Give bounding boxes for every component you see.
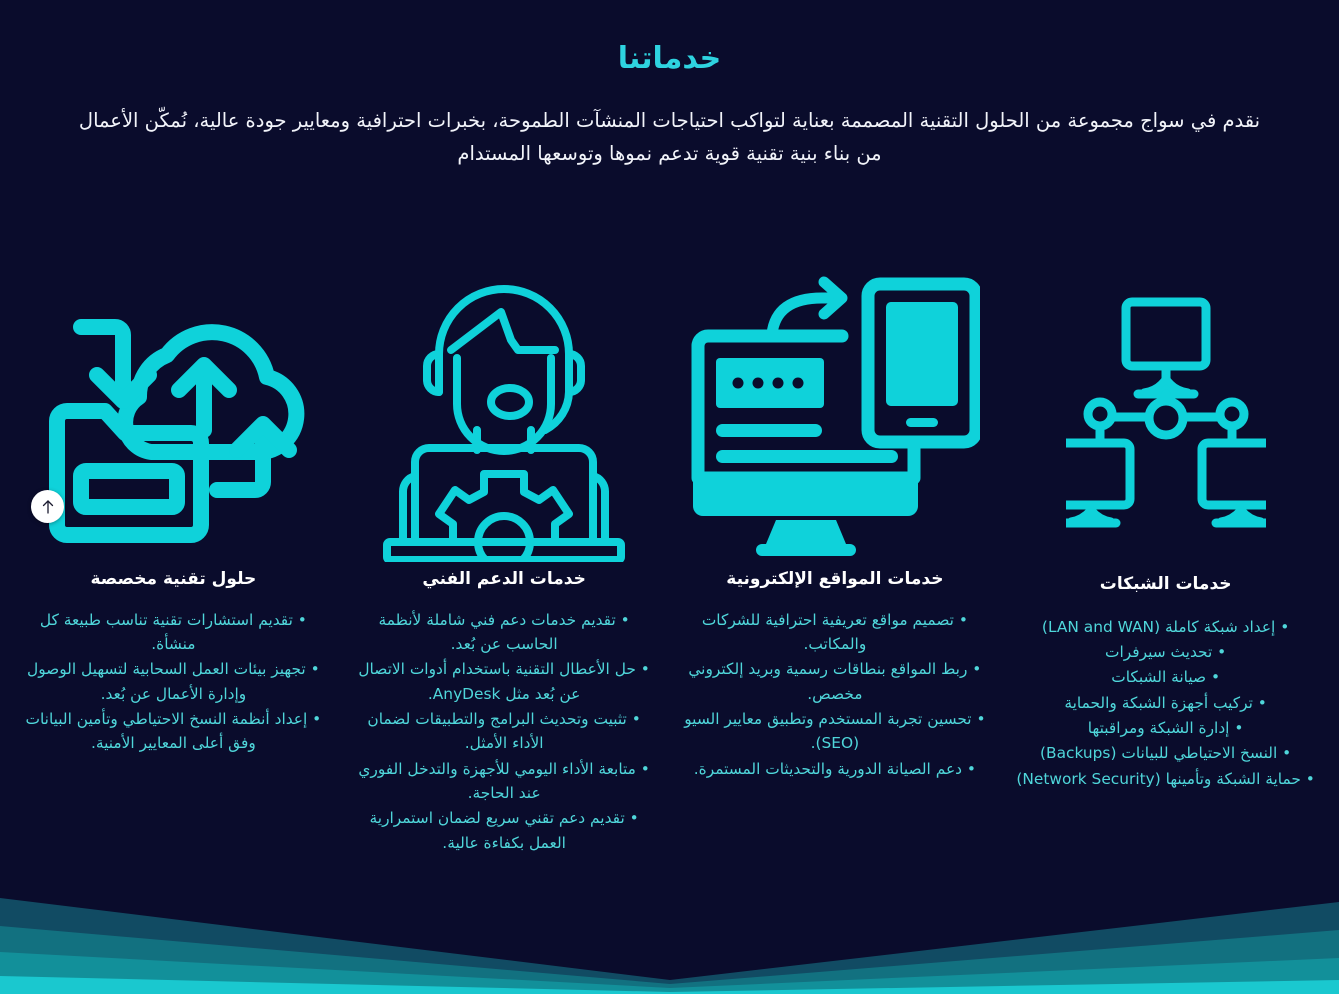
service-card-network-services[interactable]: خدمات الشبكات إعداد شبكة كاملة (LAN and … <box>1000 262 1331 792</box>
list-item: إعداد أنظمة النسخ الاحتياطي وتأمين البيا… <box>20 707 327 756</box>
section-subtitle: نقدم في سواج مجموعة من الحلول التقنية ال… <box>70 104 1270 171</box>
responsive-website-icon <box>690 262 980 562</box>
list-item: النسخ الاحتياطي للبيانات (Backups) <box>1016 741 1315 765</box>
list-item: تركيب أجهزة الشبكة والحماية <box>1016 691 1315 715</box>
footer-wave-decoration <box>0 884 1339 994</box>
list-item: تصميم مواقع تعريفية احترافية للشركات وال… <box>682 608 989 657</box>
list-item: ربط المواقع بنطاقات رسمية وبريد إلكتروني… <box>682 657 989 706</box>
network-topology-icon <box>1066 262 1266 562</box>
cloud-backup-icon <box>39 262 307 562</box>
list-item: حل الأعطال التقنية باستخدام أدوات الاتصا… <box>351 657 658 706</box>
list-item: متابعة الأداء اليومي للأجهزة والتدخل الف… <box>351 757 658 806</box>
card-feature-list: إعداد شبكة كاملة (LAN and WAN) تحديث سير… <box>1016 615 1315 792</box>
card-feature-list: تقديم خدمات دعم فني شاملة لأنظمة الحاسب … <box>351 608 658 856</box>
services-card-row: خدمات الشبكات إعداد شبكة كاملة (LAN and … <box>0 262 1339 856</box>
list-item: حماية الشبكة وتأمينها (Network Security) <box>1016 767 1315 791</box>
list-item: تجهيز بيئات العمل السحابية لتسهيل الوصول… <box>20 657 327 706</box>
card-feature-list: تصميم مواقع تعريفية احترافية للشركات وال… <box>682 608 989 782</box>
list-item: إعداد شبكة كاملة (LAN and WAN) <box>1016 615 1315 639</box>
service-card-web-services[interactable]: خدمات المواقع الإلكترونية تصميم مواقع تع… <box>670 262 1001 782</box>
list-item: تثبيت وتحديث البرامج والتطبيقات لضمان ال… <box>351 707 658 756</box>
list-item: تقديم استشارات تقنية تناسب طبيعة كل منشأ… <box>20 608 327 657</box>
list-item: دعم الصيانة الدورية والتحديثات المستمرة. <box>682 757 989 781</box>
arrow-up-icon <box>41 499 55 515</box>
list-item: تحديث سيرفرات <box>1016 640 1315 664</box>
card-feature-list: تقديم استشارات تقنية تناسب طبيعة كل منشأ… <box>20 608 327 757</box>
list-item: تقديم دعم تقني سريع لضمان استمرارية العم… <box>351 806 658 855</box>
list-item: صيانة الشبكات <box>1016 665 1315 689</box>
list-item: تحسين تجربة المستخدم وتطبيق معايير السيو… <box>682 707 989 756</box>
scroll-to-top-button[interactable] <box>31 490 64 523</box>
services-page: خدماتنا نقدم في سواج مجموعة من الحلول ال… <box>0 0 1339 994</box>
card-title: حلول تقنية مخصصة <box>90 568 256 592</box>
page-title: خدماتنا <box>0 40 1339 78</box>
support-agent-icon <box>379 262 629 562</box>
service-card-technical-support[interactable]: خدمات الدعم الفني تقديم خدمات دعم فني شا… <box>339 262 670 856</box>
section-header: خدماتنا نقدم في سواج مجموعة من الحلول ال… <box>0 0 1339 171</box>
list-item: إدارة الشبكة ومراقبتها <box>1016 716 1315 740</box>
card-title: خدمات المواقع الإلكترونية <box>726 568 943 592</box>
card-title: خدمات الدعم الفني <box>422 568 585 592</box>
list-item: تقديم خدمات دعم فني شاملة لأنظمة الحاسب … <box>351 608 658 657</box>
card-title: خدمات الشبكات <box>1100 573 1232 597</box>
